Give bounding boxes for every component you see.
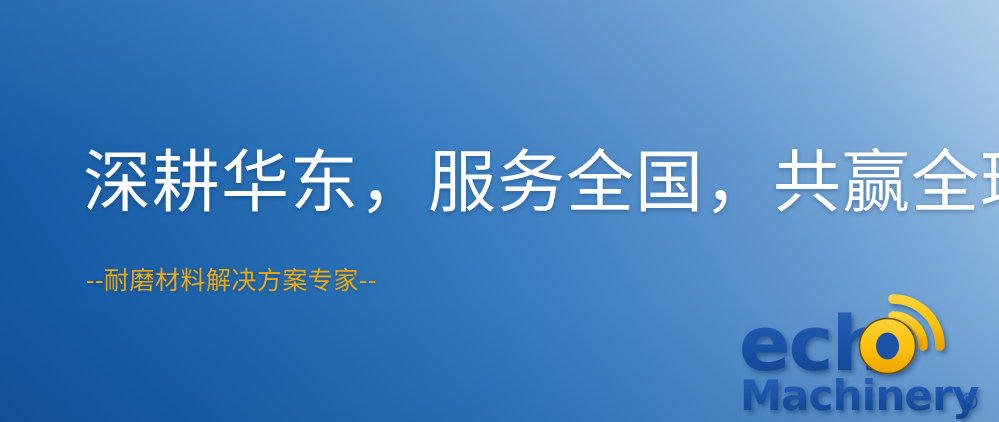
- registered-trademark-icon: ®: [957, 388, 981, 416]
- logo-wordmark-gold-o: [860, 319, 916, 374]
- page-subtitle: --耐磨材料解决方案专家--: [86, 266, 377, 296]
- logo-tagline: Machinery: [740, 371, 979, 420]
- page-title: 深耕华东，服务全国，共赢全球: [83, 148, 999, 220]
- hero-banner: 深耕华东，服务全国，共赢全球 --耐磨材料解决方案专家--: [0, 0, 999, 422]
- echo-machinery-logo[interactable]: ech Machinery ®: [735, 290, 993, 422]
